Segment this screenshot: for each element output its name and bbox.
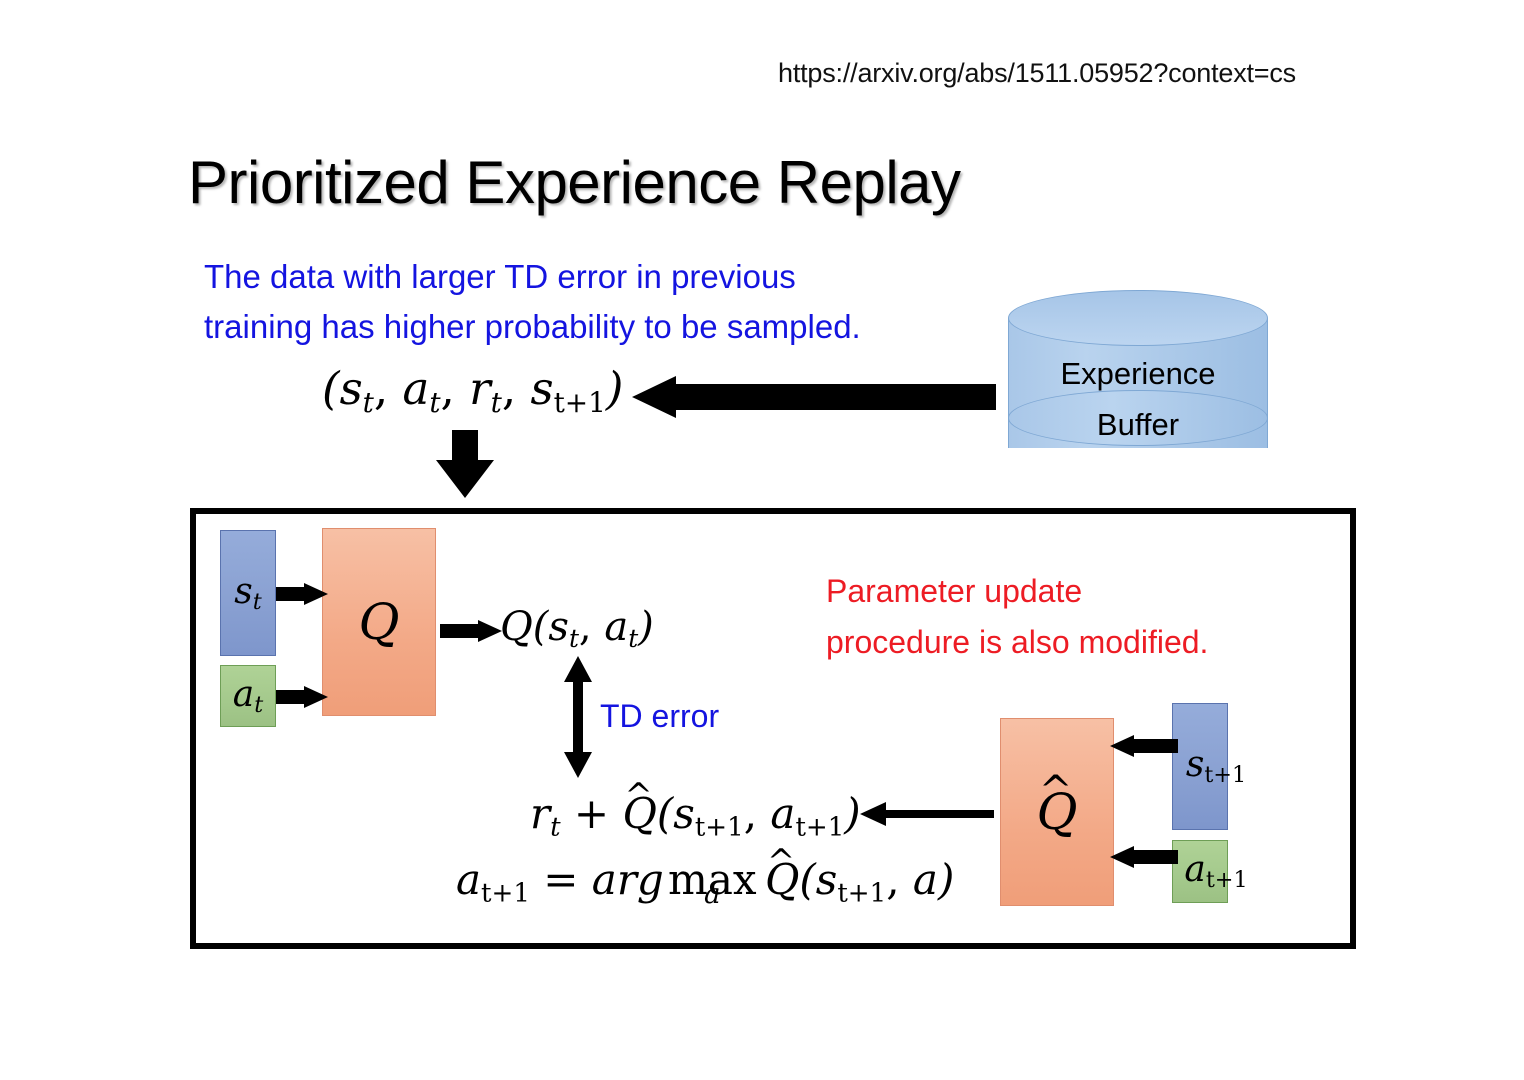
source-url: https://arxiv.org/abs/1511.05952?context… — [778, 58, 1296, 89]
parameter-update-note: Parameter update procedure is also modif… — [826, 566, 1208, 668]
target-reward: r — [530, 789, 550, 838]
page-title: Prioritized Experience Replay — [188, 148, 961, 217]
arrow-down-icon — [436, 430, 494, 498]
argmax-arg: arg — [592, 855, 664, 904]
cylinder-top-ellipse — [1008, 290, 1268, 346]
buffer-label-line-2: Buffer — [1008, 399, 1268, 450]
slide-canvas: https://arxiv.org/abs/1511.05952?context… — [0, 0, 1524, 1080]
target-qhat: ^Q — [622, 789, 656, 838]
argmax-state: s — [816, 855, 838, 904]
tuple-action-sub: t — [429, 386, 440, 419]
q-output-state-sub: t — [569, 624, 579, 653]
transition-tuple: (st, at, rt, st+1) — [322, 362, 623, 419]
target-action: a — [770, 789, 795, 838]
red-note-line-2: procedure is also modified. — [826, 617, 1208, 668]
tuple-state-sub: t — [363, 386, 374, 419]
target-close-paren: ) — [844, 789, 860, 838]
q-output-comma: , — [579, 604, 604, 650]
input-block-state: st — [220, 530, 276, 656]
td-error-label: TD error — [600, 698, 719, 735]
blue-caption: The data with larger TD error in previou… — [204, 252, 861, 352]
q-output-suffix: ) — [638, 604, 654, 650]
target-input-block-action-label: at+1 — [1184, 849, 1247, 893]
target-state: s — [673, 789, 695, 838]
tuple-open-paren: ( — [322, 362, 340, 415]
arrow-right-icon — [276, 686, 328, 708]
target-open-paren: ( — [657, 789, 673, 838]
red-note-line-1: Parameter update — [826, 566, 1208, 617]
q-network-label: Q — [359, 593, 400, 651]
tuple-reward-sub: t — [491, 386, 502, 419]
input-block-state-label: st — [234, 571, 261, 615]
arrow-left-icon — [860, 802, 994, 826]
argmax-max-sub: a — [704, 877, 721, 910]
target-input-block-state-label: st+1 — [1186, 744, 1246, 788]
argmax-comma: , — [886, 855, 913, 904]
target-comma: , — [744, 789, 771, 838]
experience-buffer-cylinder: Experience Buffer — [1008, 290, 1268, 476]
argmax-lhs-action: a — [456, 855, 481, 904]
hat-accent-icon: ^ — [1039, 771, 1073, 811]
tuple-reward: r — [469, 362, 491, 415]
q-value-expression: Q(st, at) — [500, 604, 654, 653]
arrow-right-icon — [440, 620, 502, 642]
target-action-next-sub: t+1 — [1206, 868, 1248, 894]
target-q-network-label: ^Q — [1037, 783, 1078, 841]
argmax-equals: = — [530, 855, 592, 904]
argmax-qhat: ^Q — [765, 855, 799, 904]
q-network-block: Q — [322, 528, 436, 716]
tuple-comma-2: , — [441, 362, 470, 415]
q-output-action-sub: t — [628, 624, 638, 653]
target-reward-sub: t — [550, 812, 560, 842]
blue-caption-line-2: training has higher probability to be sa… — [204, 302, 861, 352]
experience-buffer-label: Experience Buffer — [1008, 348, 1268, 450]
target-state-sub: t+1 — [695, 812, 744, 842]
target-input-block-state: st+1 — [1172, 703, 1228, 830]
tuple-action: a — [402, 362, 429, 415]
target-action-sub: t+1 — [795, 812, 844, 842]
q-output-prefix: Q( — [500, 604, 548, 650]
arrow-left-icon — [1110, 846, 1178, 868]
buffer-label-line-1: Experience — [1008, 348, 1268, 399]
arrow-left-icon — [632, 376, 996, 418]
tuple-close-paren: ) — [606, 362, 624, 415]
blue-caption-line-1: The data with larger TD error in previou… — [204, 252, 861, 302]
target-input-block-action: at+1 — [1172, 840, 1228, 903]
target-state-next-sub: t+1 — [1204, 763, 1246, 789]
argmax-open-paren: ( — [799, 855, 815, 904]
argmax-max: maxa — [668, 855, 757, 904]
tuple-comma-1: , — [374, 362, 403, 415]
input-block-action: at — [220, 665, 276, 727]
argmax-action: a — [913, 855, 938, 904]
hat-accent-icon: ^ — [624, 779, 652, 813]
argmax-expression: at+1 = arg maxa ^Q(st+1, a) — [456, 855, 954, 908]
argmax-state-sub: t+1 — [837, 878, 886, 908]
argmax-lhs-sub: t+1 — [481, 878, 530, 908]
hat-accent-icon: ^ — [767, 845, 795, 879]
input-block-action-label: at — [233, 674, 263, 718]
target-plus: + — [561, 789, 623, 838]
q-output-action: a — [604, 604, 628, 650]
tuple-comma-3: , — [502, 362, 531, 415]
arrow-left-icon — [1110, 735, 1178, 757]
tuple-next-state-sub: t+1 — [554, 386, 606, 419]
td-target-expression: rt + ^Q(st+1, at+1) — [530, 789, 861, 842]
tuple-state: s — [340, 362, 363, 415]
target-q-network-block: ^Q — [1000, 718, 1114, 906]
q-output-state: s — [548, 604, 569, 650]
tuple-next-state: s — [531, 362, 554, 415]
arrow-right-icon — [276, 583, 328, 605]
argmax-close-paren: ) — [938, 855, 954, 904]
arrow-up-down-icon — [564, 656, 592, 778]
